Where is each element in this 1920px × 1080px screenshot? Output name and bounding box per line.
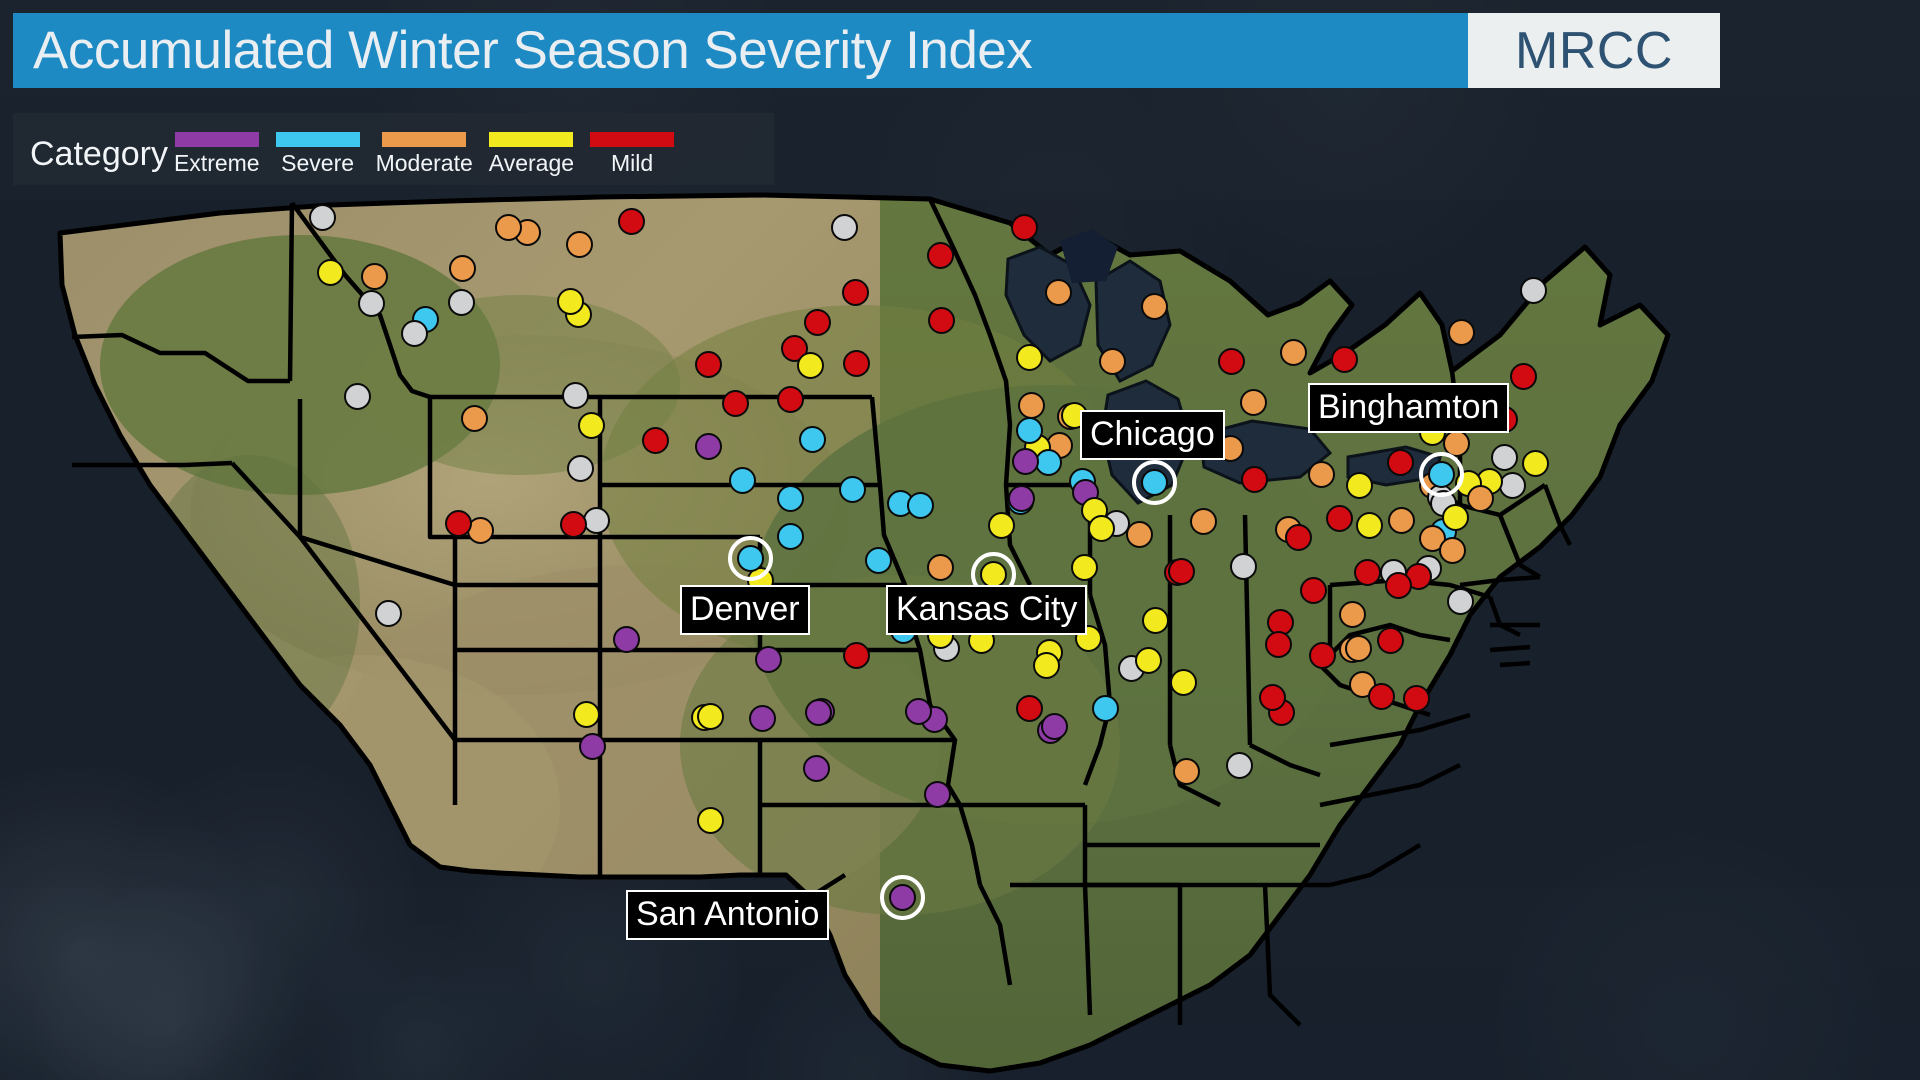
category-legend: Category ExtremeSevereModerateAverageMil…: [13, 113, 774, 185]
severity-dot[interactable]: [927, 242, 954, 269]
severity-dot[interactable]: [573, 701, 600, 728]
severity-dot[interactable]: [1520, 277, 1547, 304]
city-label-san-antonio[interactable]: San Antonio: [626, 890, 829, 940]
severity-dot[interactable]: [697, 807, 724, 834]
severity-dot[interactable]: [1190, 508, 1217, 535]
severity-dot[interactable]: [804, 309, 831, 336]
severity-dot[interactable]: [805, 699, 832, 726]
severity-dot[interactable]: [642, 427, 669, 454]
severity-dot[interactable]: [1259, 684, 1286, 711]
us-severity-map[interactable]: ChicagoBinghamtonDenverKansas CitySan An…: [0, 185, 1920, 1080]
legend-swatch-mild: [590, 132, 674, 147]
severity-dot[interactable]: [1388, 507, 1415, 534]
severity-dot[interactable]: [358, 290, 385, 317]
legend-item-extreme[interactable]: Extreme: [174, 132, 260, 175]
city-dot-kansas-city[interactable]: [980, 561, 1007, 588]
severity-dot[interactable]: [1387, 449, 1414, 476]
legend-item-severe[interactable]: Severe: [276, 132, 360, 175]
severity-dot[interactable]: [562, 382, 589, 409]
severity-dot[interactable]: [1346, 472, 1373, 499]
severity-dot[interactable]: [1442, 504, 1469, 531]
severity-dot[interactable]: [579, 733, 606, 760]
severity-dot[interactable]: [777, 485, 804, 512]
severity-dot[interactable]: [1265, 631, 1292, 658]
severity-dot[interactable]: [839, 476, 866, 503]
severity-dot[interactable]: [1447, 588, 1474, 615]
city-label-binghamton[interactable]: Binghamton: [1308, 383, 1509, 433]
severity-dot[interactable]: [1012, 448, 1039, 475]
title-bar: Accumulated Winter Season Severity Index: [13, 13, 1468, 88]
severity-dot[interactable]: [375, 600, 402, 627]
severity-dot[interactable]: [1439, 537, 1466, 564]
severity-dot[interactable]: [1035, 449, 1062, 476]
legend-label-extreme: Extreme: [174, 152, 260, 175]
city-dot-san-antonio[interactable]: [889, 884, 916, 911]
severity-dot[interactable]: [1354, 559, 1381, 586]
severity-dot[interactable]: [1368, 683, 1395, 710]
severity-dot[interactable]: [1142, 607, 1169, 634]
severity-dot[interactable]: [1170, 669, 1197, 696]
severity-dot[interactable]: [1141, 293, 1168, 320]
severity-dot[interactable]: [1448, 319, 1475, 346]
severity-dot[interactable]: [843, 350, 870, 377]
severity-dot[interactable]: [865, 547, 892, 574]
severity-dot[interactable]: [448, 289, 475, 316]
severity-dot[interactable]: [1045, 279, 1072, 306]
severity-dot[interactable]: [1092, 695, 1119, 722]
city-label-denver[interactable]: Denver: [680, 585, 810, 635]
severity-dot[interactable]: [927, 554, 954, 581]
severity-dot[interactable]: [924, 781, 951, 808]
severity-dot[interactable]: [613, 626, 640, 653]
mrcc-logo-text: MRCC: [1515, 25, 1673, 77]
legend-swatch-average: [489, 132, 573, 147]
severity-dot[interactable]: [557, 288, 584, 315]
severity-dot[interactable]: [1016, 417, 1043, 444]
legend-swatch-severe: [276, 132, 360, 147]
severity-dot[interactable]: [560, 511, 587, 538]
severity-dot[interactable]: [905, 698, 932, 725]
severity-dot[interactable]: [445, 510, 472, 537]
severity-dot[interactable]: [566, 231, 593, 258]
severity-dot[interactable]: [777, 386, 804, 413]
severity-dot[interactable]: [344, 383, 371, 410]
severity-dot[interactable]: [842, 279, 869, 306]
severity-dot[interactable]: [1499, 472, 1526, 499]
legend-title: Category: [13, 137, 174, 185]
severity-dot[interactable]: [309, 204, 336, 231]
severity-dot[interactable]: [1008, 485, 1035, 512]
severity-dot[interactable]: [1522, 450, 1549, 477]
severity-dot[interactable]: [618, 208, 645, 235]
severity-dot[interactable]: [1308, 461, 1335, 488]
severity-dot[interactable]: [1099, 348, 1126, 375]
severity-dot[interactable]: [461, 405, 488, 432]
severity-dot[interactable]: [797, 352, 824, 379]
legend-label-mild: Mild: [611, 152, 653, 175]
severity-dot[interactable]: [1011, 214, 1038, 241]
severity-dot[interactable]: [1016, 695, 1043, 722]
legend-item-list: ExtremeSevereModerateAverageMild: [174, 132, 674, 185]
severity-dot[interactable]: [843, 642, 870, 669]
severity-dot[interactable]: [361, 263, 388, 290]
severity-dot[interactable]: [799, 426, 826, 453]
legend-label-average: Average: [489, 152, 574, 175]
severity-dot[interactable]: [1218, 348, 1245, 375]
severity-dot[interactable]: [803, 755, 830, 782]
severity-dot[interactable]: [1033, 652, 1060, 679]
severity-dot[interactable]: [1300, 577, 1327, 604]
severity-dot[interactable]: [755, 646, 782, 673]
severity-dot[interactable]: [1241, 466, 1268, 493]
severity-dot[interactable]: [1510, 363, 1537, 390]
severity-dot[interactable]: [722, 390, 749, 417]
mrcc-logo[interactable]: MRCC: [1468, 13, 1720, 88]
severity-dot[interactable]: [1467, 485, 1494, 512]
severity-dot[interactable]: [1088, 515, 1115, 542]
severity-dot[interactable]: [1041, 713, 1068, 740]
severity-dot[interactable]: [1385, 572, 1412, 599]
severity-dot[interactable]: [1285, 524, 1312, 551]
legend-label-severe: Severe: [281, 152, 354, 175]
severity-dot[interactable]: [1071, 554, 1098, 581]
severity-dot[interactable]: [567, 455, 594, 482]
severity-dot[interactable]: [695, 433, 722, 460]
severity-dot[interactable]: [1016, 344, 1043, 371]
city-dot-denver[interactable]: [737, 545, 764, 572]
severity-dot[interactable]: [1339, 601, 1366, 628]
legend-item-average[interactable]: Average: [489, 132, 574, 175]
city-dot-binghamton[interactable]: [1428, 461, 1455, 488]
severity-dot[interactable]: [578, 412, 605, 439]
severity-dot[interactable]: [777, 523, 804, 550]
severity-dot[interactable]: [1018, 392, 1045, 419]
severity-dot[interactable]: [1126, 521, 1153, 548]
severity-dot[interactable]: [988, 512, 1015, 539]
weather-map-screen: ChicagoBinghamtonDenverKansas CitySan An…: [0, 0, 1920, 1080]
severity-dot[interactable]: [583, 507, 610, 534]
severity-dot[interactable]: [1240, 389, 1267, 416]
severity-dot[interactable]: [1226, 752, 1253, 779]
severity-dot[interactable]: [1377, 627, 1404, 654]
severity-dot[interactable]: [1173, 758, 1200, 785]
severity-dot[interactable]: [1168, 558, 1195, 585]
legend-label-moderate: Moderate: [376, 152, 473, 175]
page-title: Accumulated Winter Season Severity Index: [13, 24, 1032, 77]
severity-dot[interactable]: [1356, 512, 1383, 539]
city-label-kansas-city[interactable]: Kansas City: [886, 585, 1087, 635]
severity-dot[interactable]: [1230, 553, 1257, 580]
severity-dot[interactable]: [1309, 642, 1336, 669]
severity-dot[interactable]: [1345, 635, 1372, 662]
severity-dot[interactable]: [1491, 444, 1518, 471]
legend-item-moderate[interactable]: Moderate: [376, 132, 473, 175]
severity-dot[interactable]: [1326, 505, 1353, 532]
severity-dot[interactable]: [449, 255, 476, 282]
city-label-chicago[interactable]: Chicago: [1080, 410, 1225, 460]
severity-dot[interactable]: [1135, 647, 1162, 674]
severity-dot[interactable]: [749, 705, 776, 732]
severity-dot[interactable]: [1403, 685, 1430, 712]
severity-dot[interactable]: [495, 214, 522, 241]
severity-dot[interactable]: [831, 214, 858, 241]
severity-dot[interactable]: [697, 703, 724, 730]
severity-dot[interactable]: [928, 307, 955, 334]
severity-dot[interactable]: [695, 351, 722, 378]
severity-dot[interactable]: [1331, 346, 1358, 373]
legend-swatch-moderate: [382, 132, 466, 147]
severity-dot[interactable]: [1280, 339, 1307, 366]
severity-dot[interactable]: [401, 320, 428, 347]
severity-dot[interactable]: [907, 492, 934, 519]
severity-dot[interactable]: [729, 467, 756, 494]
severity-dot[interactable]: [317, 259, 344, 286]
legend-swatch-extreme: [175, 132, 259, 147]
legend-item-mild[interactable]: Mild: [590, 132, 674, 175]
city-dot-chicago[interactable]: [1141, 469, 1168, 496]
